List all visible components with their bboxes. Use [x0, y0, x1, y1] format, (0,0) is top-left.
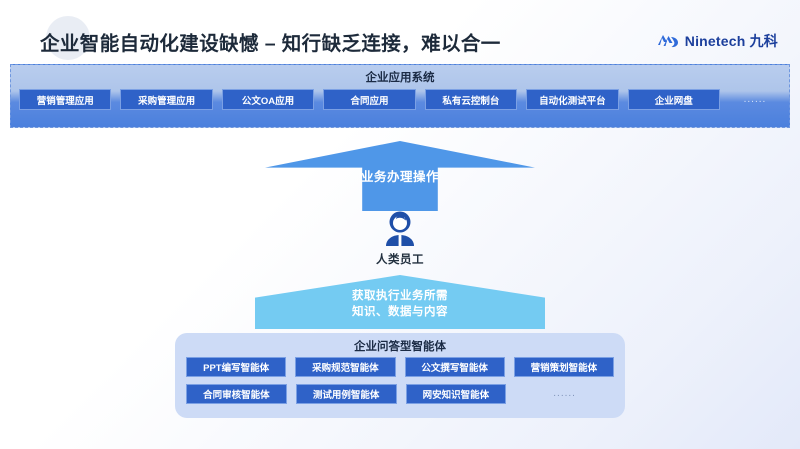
app-chip[interactable]: 采购管理应用 [120, 89, 212, 110]
app-chip[interactable]: 营销管理应用 [19, 89, 111, 110]
app-chip[interactable]: 合同应用 [323, 89, 415, 110]
agent-chip[interactable]: 采购规范智能体 [295, 357, 395, 377]
human-worker: 人类员工 [355, 211, 445, 267]
arrow-low-label: 获取执行业务所需 知识、数据与内容 [255, 288, 545, 320]
arrow-low-label-line1: 获取执行业务所需 [255, 288, 545, 304]
slide-canvas: 企业智能自动化建设缺憾 – 知行缺乏连接，难以合一 Ninetech 九科 企业… [0, 0, 800, 449]
agent-chip[interactable]: 网安知识智能体 [406, 384, 507, 404]
agent-chip[interactable]: 公文撰写智能体 [405, 357, 505, 377]
app-chip[interactable]: 公文OA应用 [222, 89, 314, 110]
app-chip[interactable]: 企业网盘 [628, 89, 720, 110]
agents-row: PPT编写智能体 采购规范智能体 公文撰写智能体 营销策划智能体 [186, 357, 614, 377]
agents-panel-title: 企业问答型智能体 [175, 338, 625, 354]
agents-chip-grid: PPT编写智能体 采购规范智能体 公文撰写智能体 营销策划智能体 合同审核智能体… [186, 357, 614, 411]
agent-chip[interactable]: 测试用例智能体 [296, 384, 397, 404]
apps-ellipsis: ...... [729, 94, 781, 105]
app-chip[interactable]: 自动化测试平台 [526, 89, 618, 110]
arrow-up-label: 业务办理操作 [265, 166, 535, 185]
business-operation-arrow: 业务办理操作 [265, 141, 535, 211]
page-title: 企业智能自动化建设缺憾 – 知行缺乏连接，难以合一 [40, 27, 501, 56]
agents-row: 合同审核智能体 测试用例智能体 网安知识智能体 ...... [186, 384, 614, 404]
app-chip[interactable]: 私有云控制台 [425, 89, 517, 110]
person-icon [383, 211, 417, 247]
arrow-low-label-line2: 知识、数据与内容 [255, 304, 545, 320]
apps-chip-row: 营销管理应用 采购管理应用 公文OA应用 合同应用 私有云控制台 自动化测试平台… [19, 89, 781, 110]
knowledge-retrieval-arrow: 获取执行业务所需 知识、数据与内容 [255, 275, 545, 329]
agents-panel: 企业问答型智能体 PPT编写智能体 采购规范智能体 公文撰写智能体 营销策划智能… [175, 333, 625, 418]
agent-chip[interactable]: PPT编写智能体 [186, 357, 286, 377]
enterprise-apps-banner: 企业应用系统 营销管理应用 采购管理应用 公文OA应用 合同应用 私有云控制台 … [10, 64, 790, 128]
apps-banner-title: 企业应用系统 [11, 69, 789, 85]
brand-logo: Ninetech 九科 [657, 31, 778, 51]
ninetech-logo-icon [657, 33, 679, 50]
agent-chip[interactable]: 营销策划智能体 [514, 357, 614, 377]
slide-header: 企业智能自动化建设缺憾 – 知行缺乏连接，难以合一 Ninetech 九科 [0, 0, 800, 64]
agent-chip[interactable]: 合同审核智能体 [186, 384, 287, 404]
brand-name: Ninetech 九科 [685, 31, 778, 51]
agents-ellipsis: ...... [515, 384, 614, 404]
human-worker-label: 人类员工 [355, 251, 445, 267]
